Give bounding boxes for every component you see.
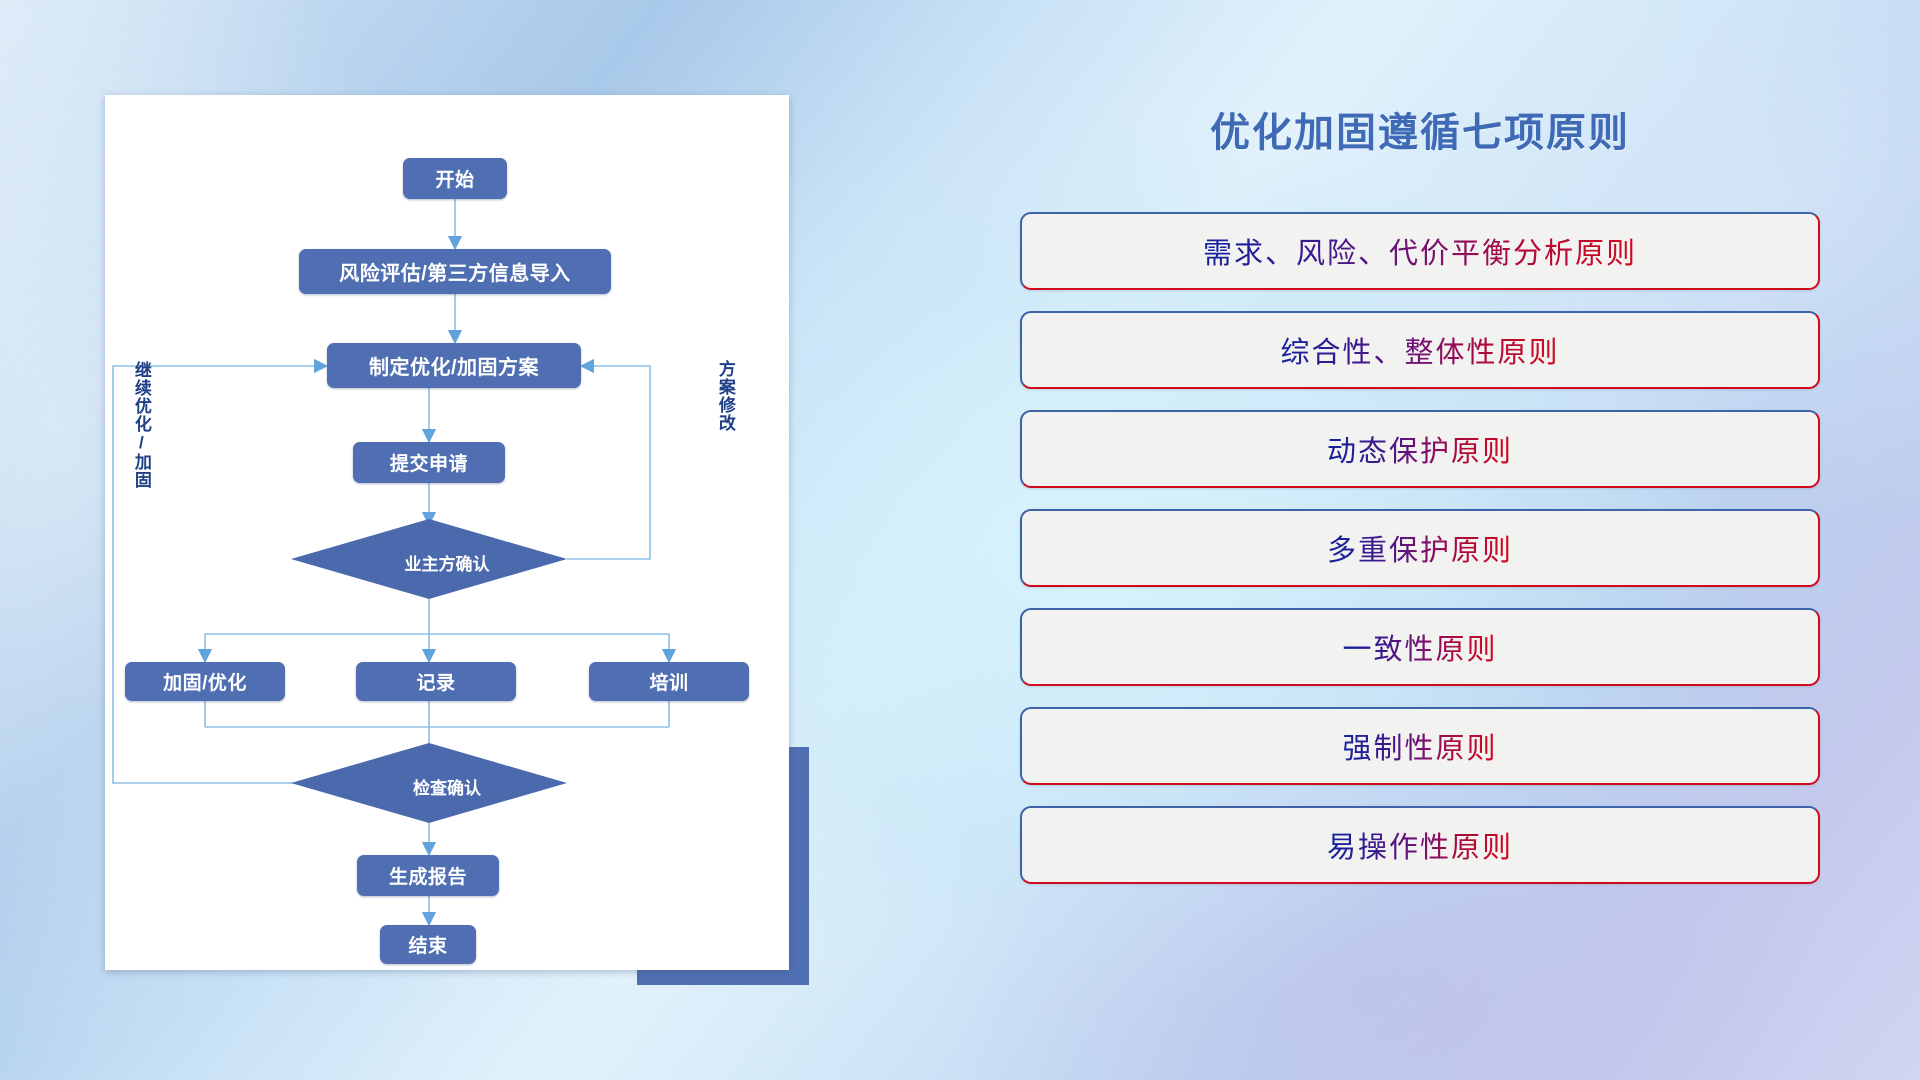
node-reinforce-optimize[interactable]: 加固/优化 [125, 662, 285, 701]
principle-label: 多重保护原则 [1327, 527, 1513, 569]
node-submit-application[interactable]: 提交申请 [353, 442, 505, 483]
principle-label: 动态保护原则 [1327, 428, 1513, 470]
principle-label: 需求、风险、代价平衡分析原则 [1203, 230, 1637, 272]
node-generate-report[interactable]: 生成报告 [357, 855, 499, 896]
node-make-plan[interactable]: 制定优化/加固方案 [327, 343, 581, 388]
principle-item-1[interactable]: 需求、风险、代价平衡分析原则 [1020, 212, 1820, 290]
decision-owner-confirm-label: 业主方确认 [105, 550, 789, 575]
node-risk-assessment[interactable]: 风险评估/第三方信息导入 [299, 249, 611, 294]
principle-label: 综合性、整体性原则 [1280, 329, 1559, 371]
principle-item-2[interactable]: 综合性、整体性原则 [1020, 311, 1820, 389]
principle-item-6[interactable]: 强制性原则 [1020, 707, 1820, 785]
principle-item-3[interactable]: 动态保护原则 [1020, 410, 1820, 488]
node-start[interactable]: 开始 [403, 158, 507, 199]
principle-item-4[interactable]: 多重保护原则 [1020, 509, 1820, 587]
edge-label-revise-plan: 方案修改 [716, 360, 734, 432]
principle-label: 强制性原则 [1342, 725, 1497, 767]
decision-check-confirm-label: 检查确认 [105, 774, 789, 799]
principle-item-7[interactable]: 易操作性原则 [1020, 806, 1820, 884]
principles-title: 优化加固遵循七项原则 [1020, 100, 1820, 158]
principle-item-5[interactable]: 一致性原则 [1020, 608, 1820, 686]
flowchart-connectors [105, 95, 789, 970]
flowchart: 业主方确认 检查确认 开始 风险评估/第三方信息导入 制定优化/加固方案 提交申… [105, 95, 789, 970]
principle-label: 一致性原则 [1342, 626, 1497, 668]
node-record[interactable]: 记录 [356, 662, 516, 701]
principles-list: 需求、风险、代价平衡分析原则 综合性、整体性原则 动态保护原则 多重保护原则 一… [1020, 212, 1820, 884]
principle-label: 易操作性原则 [1327, 824, 1513, 866]
node-end[interactable]: 结束 [380, 925, 476, 964]
flowchart-card: 业主方确认 检查确认 开始 风险评估/第三方信息导入 制定优化/加固方案 提交申… [105, 95, 789, 970]
principles-panel: 优化加固遵循七项原则 需求、风险、代价平衡分析原则 综合性、整体性原则 动态保护… [1020, 100, 1820, 884]
node-training[interactable]: 培训 [589, 662, 749, 701]
edge-label-continue-optimize: 继续优化/加固 [132, 361, 150, 489]
